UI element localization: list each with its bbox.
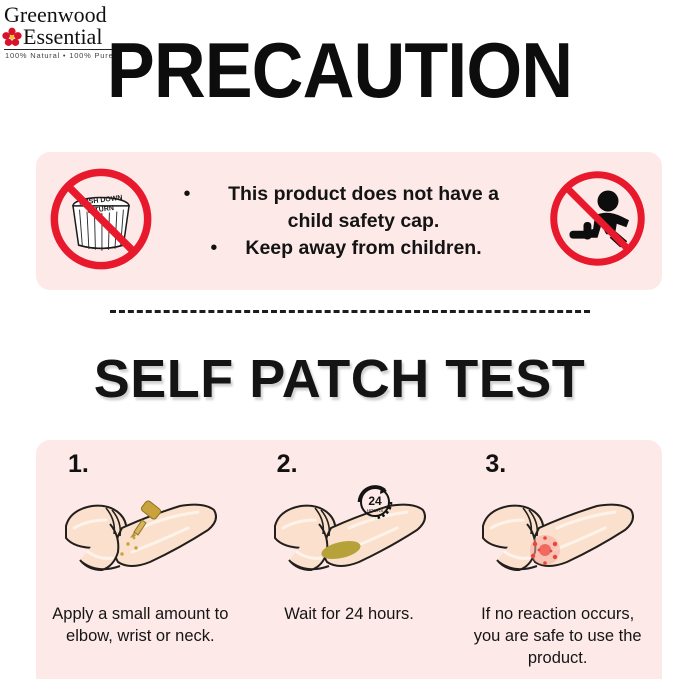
left-icon-slot: PUSH DOWN & TURN bbox=[36, 163, 166, 280]
svg-text:HOURS: HOURS bbox=[366, 508, 383, 513]
step-1-number: 1. bbox=[68, 450, 89, 479]
bullet-glyph: • bbox=[183, 181, 190, 208]
step-1-caption: Apply a small amount to elbow, wrist or … bbox=[50, 603, 230, 647]
page-title-self-patch-test: SELF PATCH TEST bbox=[0, 351, 679, 407]
elbow-with-rash-illustration bbox=[465, 478, 650, 583]
step-3: 3. bbox=[453, 440, 662, 679]
precaution-bullet-2-text: Keep away from children. bbox=[245, 235, 481, 262]
step-3-number: 3. bbox=[485, 450, 506, 479]
step-2: 2. bbox=[245, 440, 454, 679]
step-2-number: 2. bbox=[277, 450, 298, 479]
elbow-with-dropper-illustration bbox=[48, 478, 233, 583]
no-child-safety-cap-icon: PUSH DOWN & TURN bbox=[45, 163, 157, 280]
precaution-panel: PUSH DOWN & TURN • This product does not… bbox=[36, 152, 662, 290]
no-children-icon bbox=[545, 166, 650, 276]
step-2-caption: Wait for 24 hours. bbox=[284, 603, 414, 625]
step-3-caption: If no reaction occurs, you are safe to u… bbox=[468, 603, 648, 669]
right-icon-slot bbox=[532, 166, 662, 276]
precaution-bullet-1: • This product does not have a child saf… bbox=[170, 181, 528, 235]
svg-text:24: 24 bbox=[368, 494, 382, 508]
precaution-bullet-2: • Keep away from children. bbox=[170, 235, 528, 262]
bullet-glyph: • bbox=[210, 235, 217, 262]
precaution-text-block: • This product does not have a child saf… bbox=[166, 181, 532, 262]
step-1: 1. bbox=[36, 440, 245, 679]
elbow-with-patch-and-24-hour-timer-illustration: 24 HOURS bbox=[257, 478, 442, 583]
precaution-bullet-1-text: This product does not have a child safet… bbox=[219, 181, 509, 235]
self-patch-test-steps-panel: 1. bbox=[36, 440, 662, 679]
flower-icon bbox=[2, 27, 22, 47]
brand-name-line1: Greenwood bbox=[2, 4, 128, 26]
page-title-precaution: PRECAUTION bbox=[27, 30, 652, 110]
section-divider bbox=[110, 310, 590, 313]
